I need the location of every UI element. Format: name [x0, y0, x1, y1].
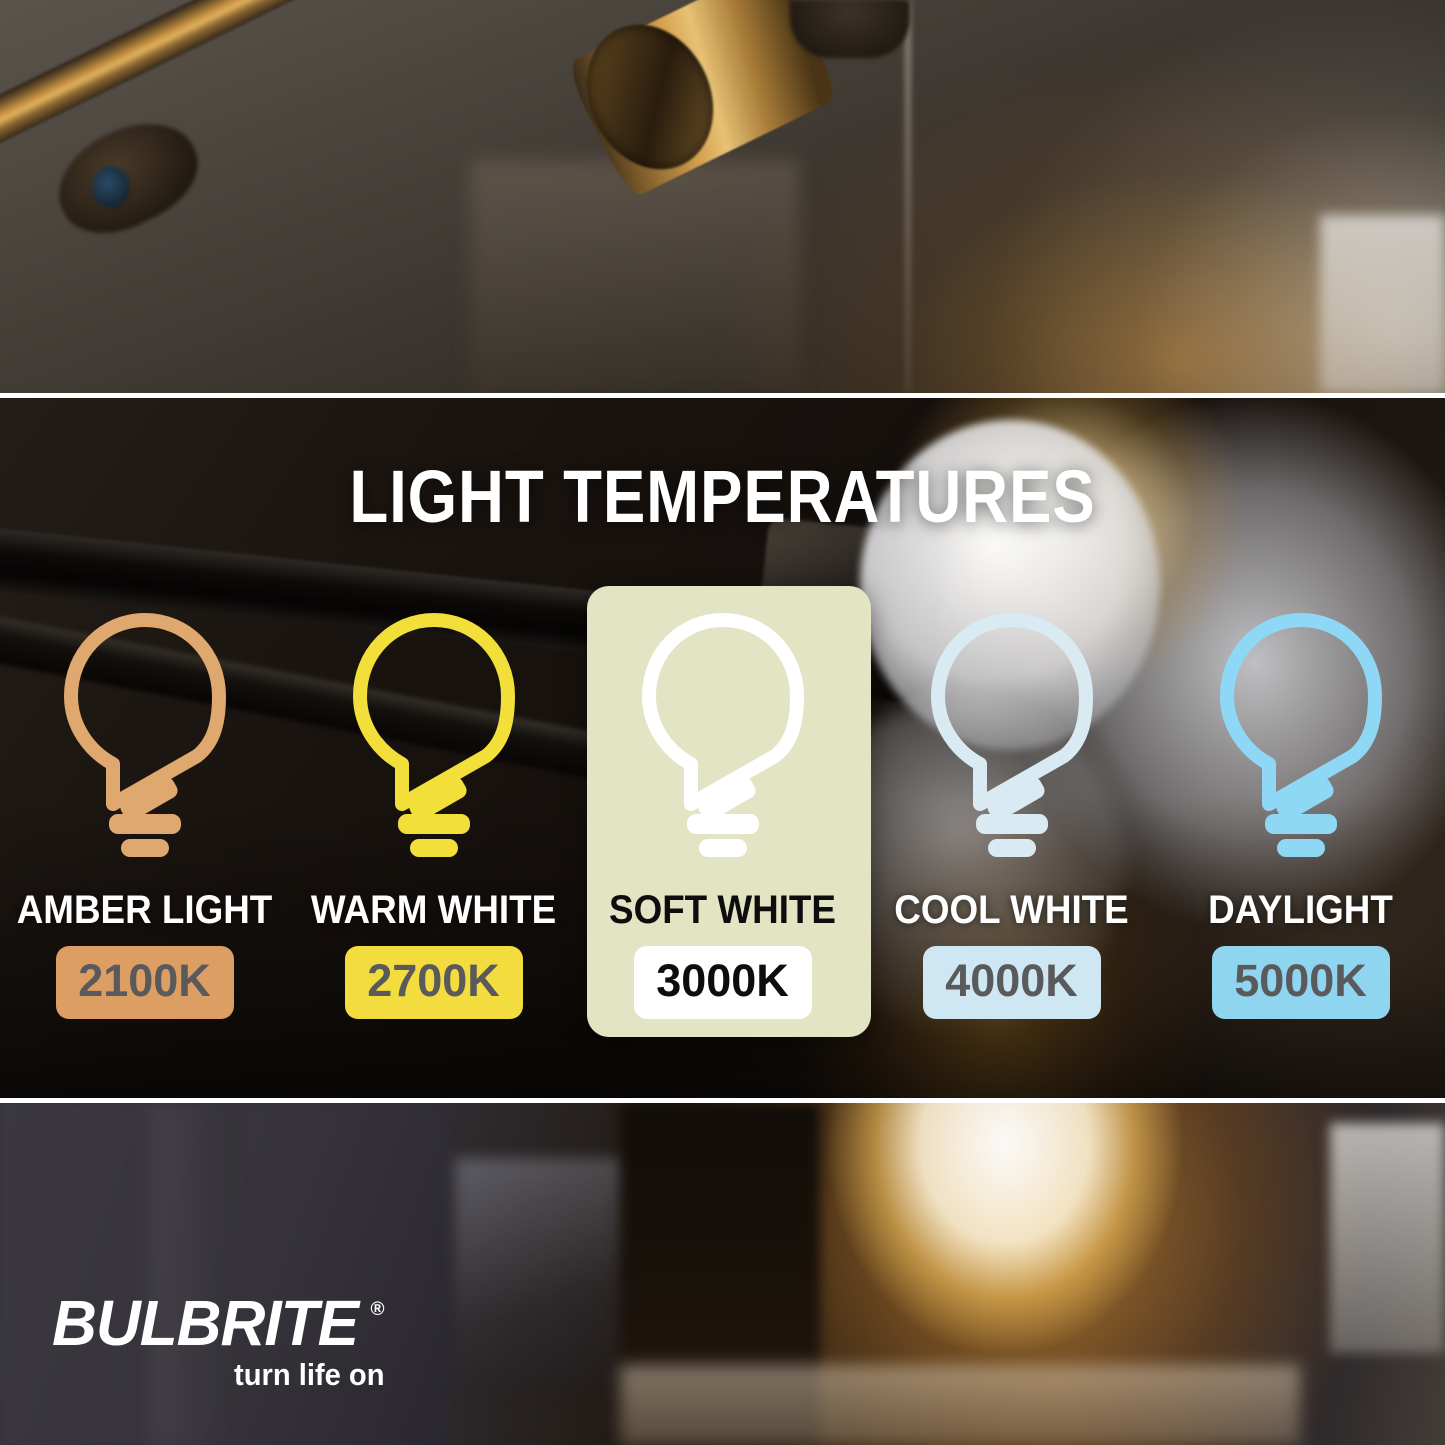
light-temperatures-poster: LIGHT TEMPERATURES AMBER LIGHT 2100K — [0, 0, 1445, 1445]
temperature-column-amber-light[interactable]: AMBER LIGHT 2100K — [0, 398, 289, 1098]
logo-wordmark: BULBRITE — [52, 1294, 358, 1353]
top-right-wall-panel — [1320, 215, 1445, 393]
top-door-frame-edge — [905, 0, 911, 393]
divider-top — [0, 393, 1445, 398]
registered-trademark-icon: ® — [371, 1300, 385, 1319]
bottom-right-panel — [1330, 1123, 1445, 1353]
temperature-column-daylight[interactable]: DAYLIGHT 5000K — [1156, 398, 1445, 1098]
temperature-label: COOL WHITE — [879, 888, 1145, 933]
bulb-icon-amber-light — [57, 608, 233, 858]
track-base-accent — [92, 166, 130, 208]
bottom-photo-band: BULBRITE ® turn life on — [0, 1103, 1445, 1445]
bottom-counter-surface — [620, 1365, 1300, 1445]
infographic-band: LIGHT TEMPERATURES AMBER LIGHT 2100K — [0, 398, 1445, 1098]
top-photo-band — [0, 0, 1445, 393]
bulb-icon-soft-white — [635, 608, 811, 858]
divider-bottom — [0, 1098, 1445, 1103]
temperature-label: DAYLIGHT — [1168, 888, 1434, 933]
bottom-left-wall-edge — [150, 1103, 230, 1445]
temperature-label: WARM WHITE — [301, 888, 567, 933]
bulb-icon-warm-white — [346, 608, 522, 858]
ceiling-mount — [790, 0, 910, 58]
logo-wordmark-row: BULBRITE ® — [52, 1294, 385, 1353]
bulb-icon-daylight — [1213, 608, 1389, 858]
temperature-column-soft-white[interactable]: SOFT WHITE 3000K — [578, 398, 867, 1098]
temperature-label: SOFT WHITE — [590, 888, 856, 933]
kelvin-badge: 3000K — [634, 946, 812, 1019]
top-door-panel — [470, 160, 800, 393]
kelvin-badge: 5000K — [1212, 946, 1390, 1019]
temperature-label: AMBER LIGHT — [12, 888, 278, 933]
kelvin-badge: 2100K — [56, 946, 234, 1019]
kelvin-badge: 4000K — [923, 946, 1101, 1019]
bulbrite-logo: BULBRITE ® turn life on — [52, 1294, 385, 1393]
temperature-column-cool-white[interactable]: COOL WHITE 4000K — [867, 398, 1156, 1098]
bulb-icon-cool-white — [924, 608, 1100, 858]
logo-tagline: turn life on — [72, 1357, 385, 1393]
temperature-column-warm-white[interactable]: WARM WHITE 2700K — [289, 398, 578, 1098]
temperature-columns: AMBER LIGHT 2100K WARM WHITE 2700K — [0, 398, 1445, 1098]
kelvin-badge: 2700K — [345, 946, 523, 1019]
